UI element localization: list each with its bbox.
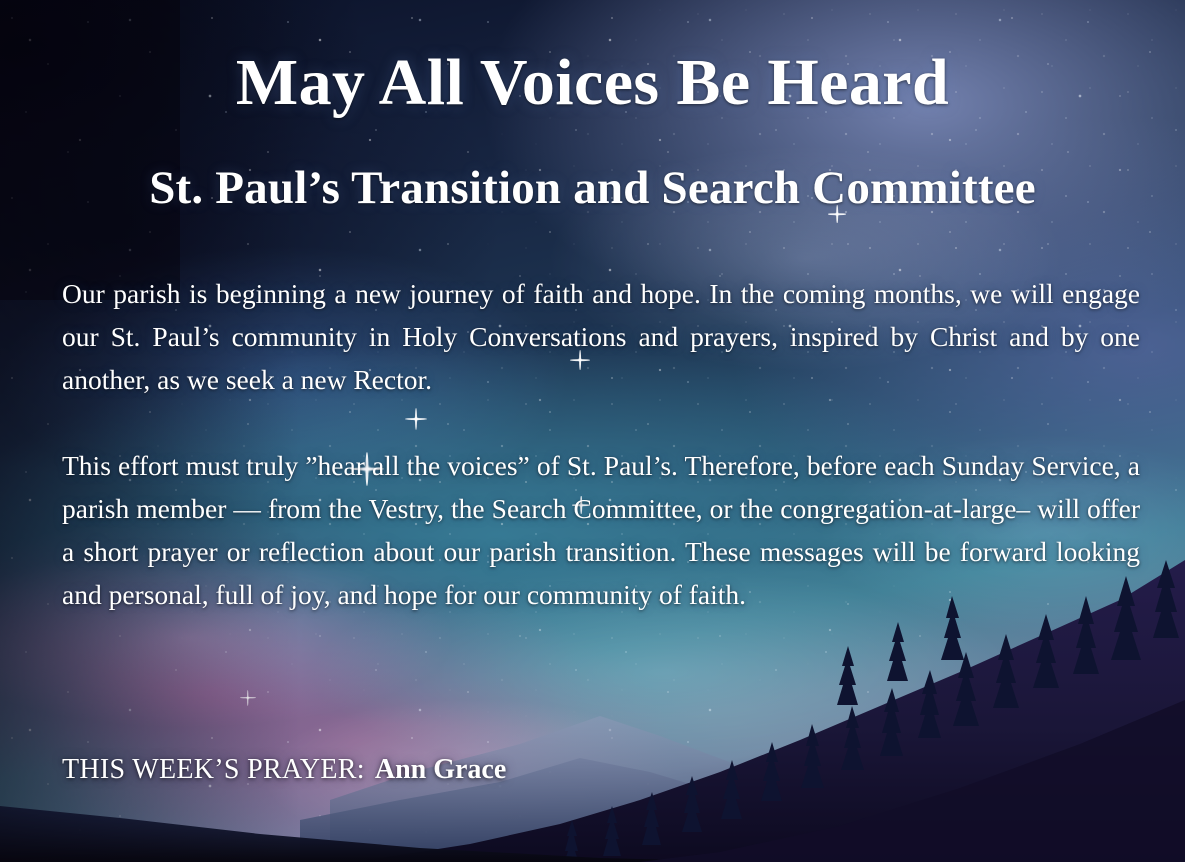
- prayer-name: Ann Grace: [375, 754, 506, 785]
- page-subtitle: St. Paul’s Transition and Search Committ…: [0, 165, 1185, 212]
- prayer-label: THIS WEEK’S PRAYER:: [62, 754, 365, 785]
- poster-content: May All Voices Be Heard St. Paul’s Trans…: [0, 0, 1185, 862]
- poster: May All Voices Be Heard St. Paul’s Trans…: [0, 0, 1185, 862]
- weekly-prayer-line: THIS WEEK’S PRAYER:Ann Grace: [62, 755, 506, 786]
- paragraph-intro: Our parish is beginning a new journey of…: [62, 272, 1140, 401]
- body-text: Our parish is beginning a new journey of…: [62, 272, 1140, 616]
- paragraph-details: This effort must truly ”hear all the voi…: [62, 444, 1140, 616]
- page-title: May All Voices Be Heard: [0, 50, 1185, 116]
